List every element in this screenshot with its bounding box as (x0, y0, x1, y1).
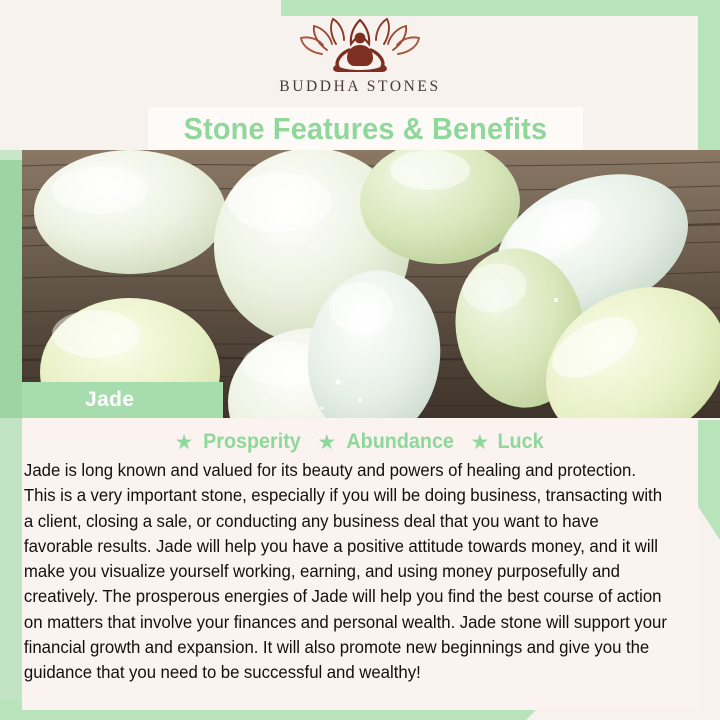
brand-logo: BUDDHA STONES (0, 14, 720, 106)
jade-stones-illustration (22, 150, 720, 418)
star-icon: ★ (317, 432, 336, 453)
decor-band-left-text (0, 418, 22, 710)
page-title: Stone Features & Benefits (184, 111, 548, 147)
benefit-prosperity: ★ Prosperity (175, 430, 305, 454)
stone-description: Jade is long known and valued for its be… (22, 458, 674, 686)
benefit-label: Luck (498, 430, 544, 454)
brand-wordmark: BUDDHA STONES (279, 78, 440, 96)
star-icon: ★ (175, 432, 194, 453)
content-panel: ★ Prosperity ★ Abundance ★ Luck Jade is … (22, 418, 698, 710)
benefit-luck: ★ Luck (471, 430, 546, 454)
stone-name: Jade (85, 388, 134, 412)
infographic-page: BUDDHA STONES Stone Features & Benefits (0, 0, 720, 720)
benefits-row: ★ Prosperity ★ Abundance ★ Luck (22, 430, 698, 454)
lotus-meditation-icon (292, 14, 428, 76)
decor-band-right-text (698, 420, 720, 540)
hero-photo (22, 150, 720, 418)
stone-name-band: Jade (22, 382, 223, 418)
benefit-abundance: ★ Abundance (317, 430, 457, 454)
title-banner: Stone Features & Benefits (148, 107, 583, 150)
star-icon: ★ (471, 432, 490, 453)
benefit-label: Prosperity (204, 430, 302, 454)
benefit-label: Abundance (347, 430, 454, 454)
decor-band-left-photo (0, 160, 22, 418)
